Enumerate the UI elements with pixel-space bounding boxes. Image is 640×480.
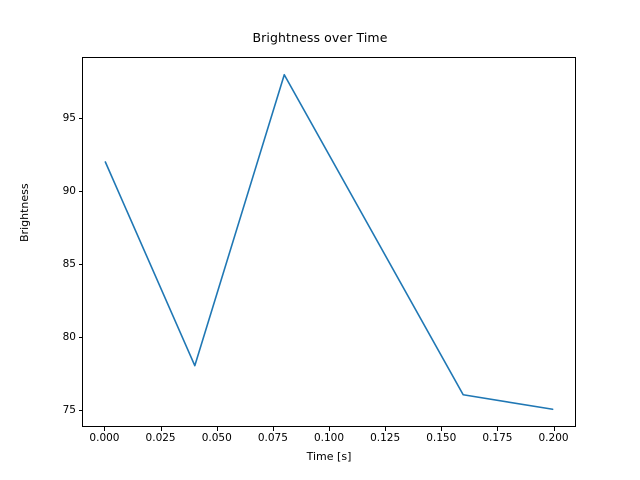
chart-title: Brightness over Time — [0, 30, 640, 45]
y-tick-mark — [79, 264, 83, 265]
x-tick-mark — [385, 427, 386, 431]
line-series-svg — [83, 58, 575, 426]
y-tick-label: 90 — [63, 185, 76, 197]
x-tick-label: 0.075 — [258, 432, 288, 444]
x-tick-label: 0.000 — [89, 432, 119, 444]
x-tick-label: 0.150 — [426, 432, 456, 444]
x-tick-label: 0.125 — [370, 432, 400, 444]
brightness-line-series — [105, 75, 552, 410]
x-tick-mark — [497, 427, 498, 431]
plot-axes-frame — [82, 57, 576, 427]
x-tick-label: 0.050 — [202, 432, 232, 444]
x-tick-mark — [217, 427, 218, 431]
x-axis-label: Time [s] — [82, 450, 576, 463]
matplotlib-figure: Brightness over Time 0.0000.0250.0500.07… — [0, 0, 640, 480]
x-tick-label: 0.175 — [482, 432, 512, 444]
x-tick-mark — [554, 427, 555, 431]
y-tick-label: 95 — [63, 112, 76, 124]
y-tick-label: 75 — [63, 404, 76, 416]
y-tick-mark — [79, 191, 83, 192]
y-tick-label: 85 — [63, 258, 76, 270]
y-tick-mark — [79, 118, 83, 119]
x-tick-mark — [441, 427, 442, 431]
y-tick-mark — [79, 410, 83, 411]
x-tick-mark — [329, 427, 330, 431]
x-tick-label: 0.025 — [146, 432, 176, 444]
y-tick-label: 80 — [63, 331, 76, 343]
x-tick-mark — [161, 427, 162, 431]
y-axis-label: Brightness — [18, 183, 31, 242]
x-tick-label: 0.200 — [539, 432, 569, 444]
x-tick-mark — [104, 427, 105, 431]
y-tick-mark — [79, 337, 83, 338]
x-tick-mark — [273, 427, 274, 431]
x-tick-label: 0.100 — [314, 432, 344, 444]
